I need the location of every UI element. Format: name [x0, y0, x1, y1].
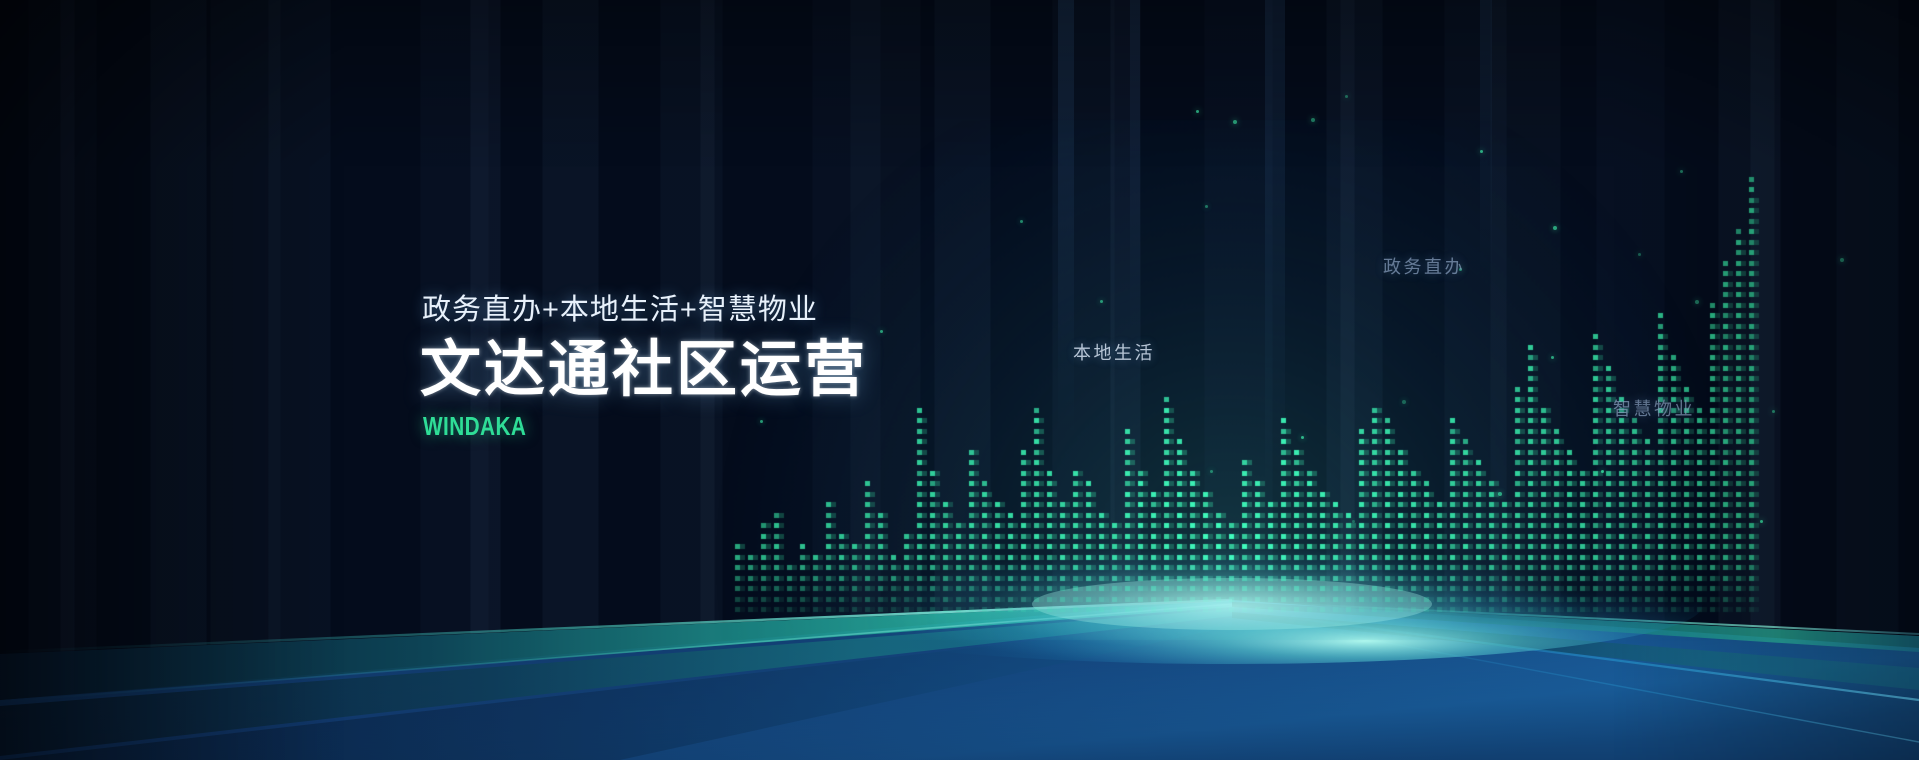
brand-wordmark: WINDAKA: [423, 413, 779, 439]
category-label-local-life: 本地生活: [1073, 339, 1155, 365]
page-title: 文达通社区运营: [420, 339, 868, 400]
category-label-government: 政务直办: [1383, 253, 1465, 279]
category-label-smart-property: 智慧物业: [1613, 395, 1695, 421]
banner-subtitle: 政务直办+本地生活+智慧物业: [422, 296, 868, 325]
headline-block: 政务直办+本地生活+智慧物业 文达通社区运营 WINDAKA: [420, 296, 868, 439]
hero-banner: 政务直办 本地生活 智慧物业 政务直办+本地生活+智慧物业 文达通社区运营 WI…: [0, 0, 1919, 760]
dot-matrix-skyline-chart: [0, 0, 1919, 760]
